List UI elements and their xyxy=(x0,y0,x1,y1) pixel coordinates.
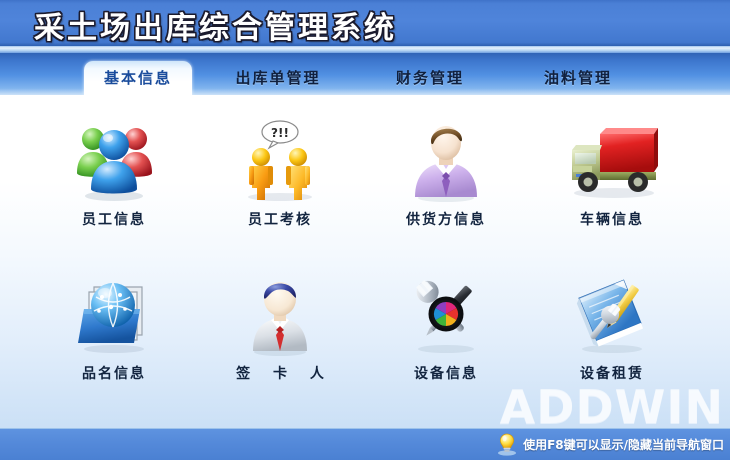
nav-item-equipment-rental[interactable]: 设备租赁 xyxy=(530,267,694,402)
nav-item-vehicle-info[interactable]: 车辆信息 xyxy=(530,113,694,248)
book-wrench-icon xyxy=(530,267,694,363)
nav-item-label: 品名信息 xyxy=(32,363,196,383)
status-bar: 使用F8键可以显示/隐藏当前导航窗口 xyxy=(0,428,730,460)
nav-item-label: 设备租赁 xyxy=(530,363,694,383)
nav-item-supplier-info[interactable]: 供货方信息 xyxy=(364,113,528,248)
person-tie-icon xyxy=(198,267,362,363)
tab-fuel-management[interactable]: 油料管理 xyxy=(528,61,628,95)
tab-strip: 基本信息 出库单管理 财务管理 油料管理 xyxy=(0,53,730,95)
wrench-screwdriver-icon xyxy=(364,267,528,363)
navigation-panel: ADDWIN xyxy=(0,95,730,428)
truck-icon xyxy=(530,113,694,209)
nav-item-card-signer[interactable]: 签 卡 人 xyxy=(198,267,362,402)
application-window: 采土场出库综合管理系统 基本信息 出库单管理 财务管理 油料管理 ADDWIN xyxy=(0,0,730,460)
businessman-icon xyxy=(364,113,528,209)
tab-outbound-order-management[interactable]: 出库单管理 xyxy=(222,61,334,95)
nav-item-equipment-info[interactable]: 设备信息 xyxy=(364,267,528,402)
two-people-question-icon: ?!! xyxy=(198,113,362,209)
title-bar: 采土场出库综合管理系统 xyxy=(0,0,730,47)
title-separator xyxy=(0,46,730,53)
nav-item-label: 车辆信息 xyxy=(530,209,694,229)
page-title: 采土场出库综合管理系统 xyxy=(34,3,397,47)
nav-item-label: 员工信息 xyxy=(32,209,196,229)
tab-finance-management[interactable]: 财务管理 xyxy=(380,61,480,95)
nav-item-label: 员工考核 xyxy=(198,209,362,229)
nav-item-label: 供货方信息 xyxy=(364,209,528,229)
nav-item-employee-info[interactable]: 员工信息 xyxy=(32,113,196,248)
svg-text:?!!: ?!! xyxy=(271,126,289,140)
icon-grid: 员工信息 xyxy=(0,95,730,428)
lightbulb-icon xyxy=(497,432,517,456)
nav-item-employee-assessment[interactable]: ?!! 员工考核 xyxy=(198,113,362,248)
globe-folder-icon xyxy=(32,267,196,363)
nav-item-label: 设备信息 xyxy=(364,363,528,383)
tab-basic-info[interactable]: 基本信息 xyxy=(84,61,192,95)
nav-item-product-name-info[interactable]: 品名信息 xyxy=(32,267,196,402)
three-users-icon xyxy=(32,113,196,209)
status-hint-text: 使用F8键可以显示/隐藏当前导航窗口 xyxy=(523,436,724,453)
nav-item-label: 签 卡 人 xyxy=(198,363,362,383)
